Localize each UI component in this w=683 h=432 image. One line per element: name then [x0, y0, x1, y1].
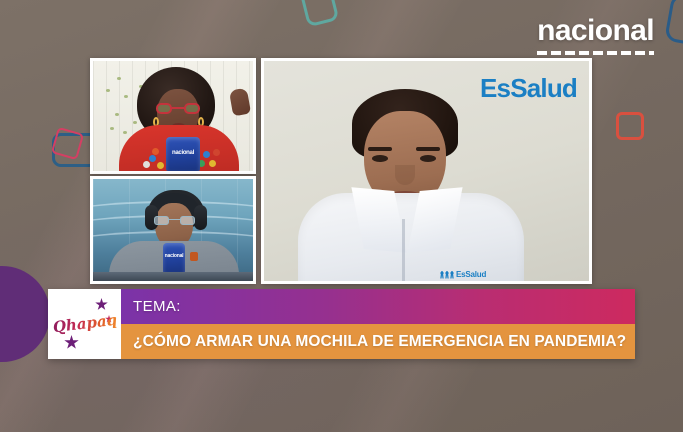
- banner-question-bar: ¿CÓMO ARMAR UNA MOCHILA DE EMERGENCIA EN…: [121, 324, 635, 359]
- lens-left: [156, 103, 172, 114]
- chest-family-icon: [440, 271, 454, 279]
- banner-topic-label: TEMA:: [133, 298, 181, 315]
- leaf-decor: [110, 127, 114, 130]
- host-shirt-badge: [190, 252, 198, 261]
- necklace-bead: [209, 160, 216, 167]
- doctor-nose: [395, 165, 415, 185]
- red-square-decoration: [616, 112, 644, 140]
- program-logo-text: Qhapaq: [52, 313, 118, 336]
- leaf-decor: [115, 113, 119, 116]
- figure-mini: [450, 271, 454, 279]
- host-eyeglasses: [154, 216, 195, 225]
- necklace-bead: [213, 149, 220, 156]
- video-feed-host: nacional: [93, 179, 253, 281]
- lower-third-banner: Qhapaq TEMA: ¿CÓMO ARMAR UNA MOCHILA DE …: [48, 289, 635, 359]
- essalud-logo: EsSalud: [475, 75, 577, 101]
- host-headphone-right: [194, 205, 207, 230]
- video-panel-guest: nacional: [90, 58, 256, 174]
- doctor-eye-right: [420, 155, 436, 162]
- leaf-decor: [123, 131, 127, 134]
- guest-eyeglasses: [156, 103, 200, 114]
- figure-mini: [445, 271, 449, 279]
- channel-logo-dashes: [537, 51, 654, 55]
- doctor-brow-left: [368, 147, 392, 151]
- essalud-wordmark: EsSalud: [480, 75, 577, 101]
- video-panel-main: EsSalud EsSalud: [261, 58, 592, 284]
- lens-right: [184, 103, 200, 114]
- video-feed-main: EsSalud EsSalud: [264, 61, 589, 281]
- chest-wordmark: EsSalud: [456, 270, 486, 279]
- banner-topic-bar: TEMA:: [121, 289, 635, 324]
- video-feed-guest: nacional: [93, 61, 253, 171]
- necklace-bead: [203, 151, 210, 158]
- guest-microphone: nacional: [166, 137, 200, 171]
- guest-mic-label: nacional: [166, 150, 200, 156]
- necklace-bead: [149, 155, 156, 162]
- necklace-bead: [152, 148, 159, 155]
- lens-right: [180, 216, 195, 225]
- doctor-brow-right: [416, 147, 440, 151]
- leaf-decor: [133, 121, 137, 124]
- host-mic-label: nacional: [163, 254, 185, 259]
- necklace-bead: [157, 162, 164, 169]
- lens-left: [154, 216, 169, 225]
- star-icon: [95, 298, 108, 311]
- glasses-bridge: [172, 107, 184, 109]
- doctor-chest-logo: EsSalud: [440, 270, 486, 279]
- channel-logo: nacional: [537, 16, 654, 55]
- doctor-coat-placket: [402, 219, 405, 281]
- leaf-decor: [117, 77, 121, 80]
- host-microphone: nacional: [163, 243, 185, 273]
- program-logo-card: Qhapaq: [48, 289, 121, 359]
- glasses-bridge: [169, 219, 180, 220]
- necklace-bead: [143, 161, 150, 168]
- leaf-decor: [106, 89, 110, 92]
- doctor-eye-left: [372, 155, 388, 162]
- star-icon: [64, 335, 79, 350]
- channel-logo-text: nacional: [537, 16, 654, 46]
- video-panel-host: nacional: [90, 176, 256, 284]
- leaf-decor: [124, 95, 128, 98]
- host-desk: [93, 272, 253, 281]
- broadcast-screen: nacional: [0, 0, 683, 432]
- figure-mini: [440, 271, 444, 279]
- banner-question-text: ¿CÓMO ARMAR UNA MOCHILA DE EMERGENCIA EN…: [133, 333, 626, 351]
- banner-text-bars: TEMA: ¿CÓMO ARMAR UNA MOCHILA DE EMERGEN…: [121, 289, 635, 359]
